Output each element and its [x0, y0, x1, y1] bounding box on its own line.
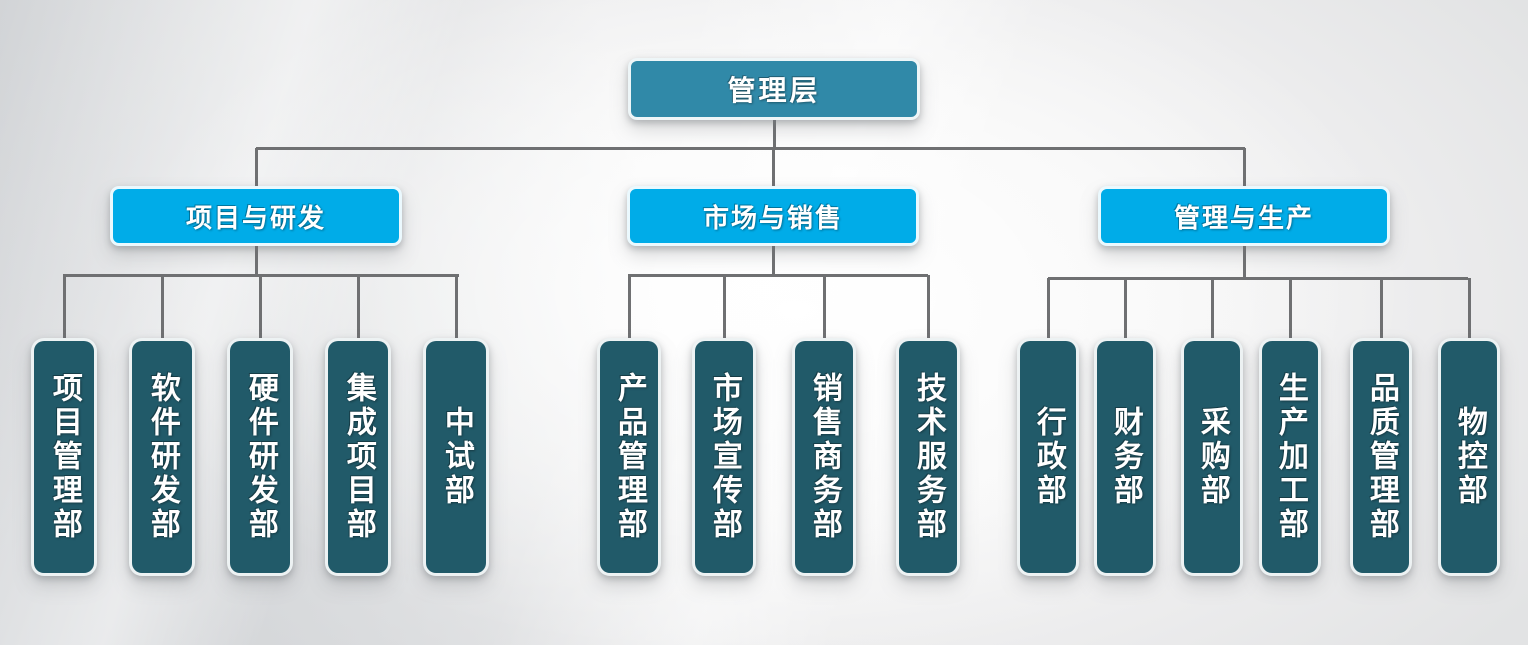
connector-department-drop-ops-3: [1289, 278, 1292, 338]
node-label: 集成项目部: [342, 372, 374, 542]
department-node[interactable]: 项目管理部: [31, 338, 97, 576]
node-label: 项目管理部: [48, 372, 80, 542]
connector-department-drop-rnd-3: [357, 275, 360, 338]
connector-department-drop-rnd-0: [63, 275, 66, 338]
connector-division-drop-ops: [1243, 246, 1246, 278]
connector-division-stem-sales: [772, 148, 775, 186]
connector-department-drop-rnd-2: [259, 275, 262, 338]
connector-department-drop-ops-1: [1124, 278, 1127, 338]
department-node[interactable]: 硬件研发部: [227, 338, 293, 576]
connector-root-stem: [773, 120, 776, 148]
connector-top-bus: [256, 147, 1245, 150]
root-node-management[interactable]: 管理层: [628, 58, 920, 120]
department-node[interactable]: 品质管理部: [1350, 338, 1412, 576]
node-label: 中试部: [440, 406, 472, 508]
node-label: 管理与生产: [1174, 198, 1314, 235]
node-label: 市场宣传部: [708, 372, 740, 542]
node-label: 销售商务部: [808, 372, 840, 542]
department-node[interactable]: 采购部: [1181, 338, 1243, 576]
connector-department-drop-ops-4: [1380, 278, 1383, 338]
node-label: 物控部: [1453, 406, 1485, 508]
division-node-rnd[interactable]: 项目与研发: [110, 186, 402, 246]
department-node[interactable]: 软件研发部: [129, 338, 195, 576]
connector-division-drop-sales: [772, 246, 775, 275]
node-label: 产品管理部: [613, 372, 645, 542]
node-label: 行政部: [1032, 406, 1064, 508]
connector-department-bus-sales: [628, 274, 928, 277]
department-node[interactable]: 集成项目部: [325, 338, 391, 576]
connector-department-drop-rnd-1: [161, 275, 164, 338]
org-chart: 项目与研发项目管理部软件研发部硬件研发部集成项目部中试部市场与销售产品管理部市场…: [0, 0, 1528, 645]
node-label: 市场与销售: [703, 198, 843, 235]
node-label: 生产加工部: [1274, 372, 1306, 542]
department-node[interactable]: 生产加工部: [1259, 338, 1321, 576]
department-node[interactable]: 产品管理部: [597, 338, 661, 576]
connector-department-drop-sales-3: [927, 275, 930, 338]
connector-division-stem-rnd: [255, 148, 258, 186]
connector-department-drop-ops-5: [1468, 278, 1471, 338]
connector-department-bus-ops: [1048, 277, 1468, 280]
department-node[interactable]: 销售商务部: [792, 338, 856, 576]
node-label: 品质管理部: [1365, 372, 1397, 542]
connector-department-drop-ops-0: [1047, 278, 1050, 338]
connector-department-drop-sales-1: [723, 275, 726, 338]
department-node[interactable]: 财务部: [1094, 338, 1156, 576]
department-node[interactable]: 行政部: [1017, 338, 1079, 576]
department-node[interactable]: 中试部: [423, 338, 489, 576]
department-node[interactable]: 技术服务部: [896, 338, 960, 576]
division-node-ops[interactable]: 管理与生产: [1098, 186, 1390, 246]
division-node-sales[interactable]: 市场与销售: [627, 186, 919, 246]
node-label: 采购部: [1196, 406, 1228, 508]
node-label: 管理层: [727, 69, 820, 109]
connector-department-drop-rnd-4: [455, 275, 458, 338]
node-label: 项目与研发: [186, 198, 326, 235]
department-node[interactable]: 市场宣传部: [692, 338, 756, 576]
connector-department-drop-ops-2: [1211, 278, 1214, 338]
department-node[interactable]: 物控部: [1438, 338, 1500, 576]
node-label: 硬件研发部: [244, 372, 276, 542]
node-label: 财务部: [1109, 406, 1141, 508]
connector-division-drop-rnd: [255, 246, 258, 275]
node-label: 技术服务部: [912, 372, 944, 542]
connector-department-drop-sales-2: [823, 275, 826, 338]
connector-division-stem-ops: [1243, 148, 1246, 186]
node-label: 软件研发部: [146, 372, 178, 542]
connector-department-drop-sales-0: [628, 275, 631, 338]
